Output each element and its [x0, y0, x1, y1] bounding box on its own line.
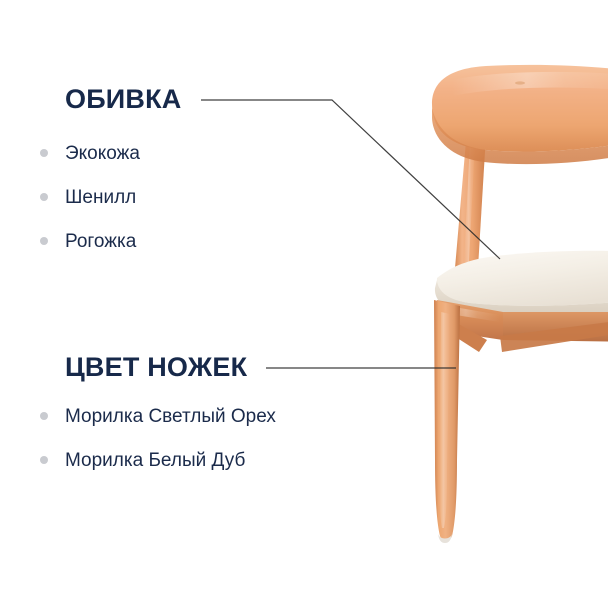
list-item-label: Рогожка	[65, 232, 136, 251]
chair-backrest	[432, 65, 608, 164]
list-item[interactable]: Морилка Светлый Орех	[40, 394, 276, 438]
list-item-label: Морилка Белый Дуб	[65, 451, 245, 470]
list-item[interactable]: Морилка Белый Дуб	[40, 438, 276, 482]
bullet-icon	[40, 456, 48, 464]
section-heading-upholstery: ОБИВКА	[65, 86, 182, 113]
infographic-canvas: ОБИВКА Экокожа Шенилл Рогожка ЦВЕТ НОЖЕК…	[0, 0, 608, 608]
list-item-label: Шенилл	[65, 188, 136, 207]
bullet-icon	[40, 149, 48, 157]
bullet-icon	[40, 193, 48, 201]
list-item[interactable]: Экокожа	[40, 131, 140, 175]
spec-list-upholstery: Экокожа Шенилл Рогожка	[40, 131, 140, 263]
front-leg	[434, 300, 460, 543]
list-item[interactable]: Шенилл	[40, 175, 140, 219]
list-item-label: Экокожа	[65, 144, 140, 163]
spec-list-leg-color: Морилка Светлый Орех Морилка Белый Дуб	[40, 394, 276, 482]
bullet-icon	[40, 237, 48, 245]
bullet-icon	[40, 412, 48, 420]
list-item[interactable]: Рогожка	[40, 219, 140, 263]
section-heading-leg-color: ЦВЕТ НОЖЕК	[65, 354, 247, 381]
list-item-label: Морилка Светлый Орех	[65, 407, 276, 426]
